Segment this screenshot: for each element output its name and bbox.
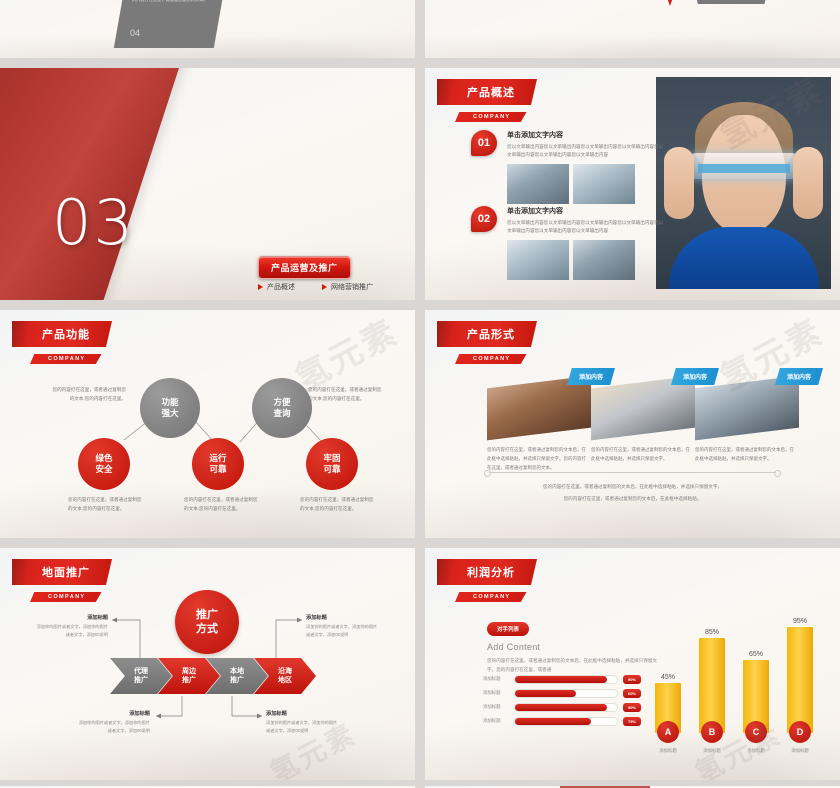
- chart-category-badge: C: [745, 721, 767, 743]
- overview-item-title: 单击添加文字内容: [507, 206, 665, 216]
- function-note-4: 您的内容打在这里，或者通过复制您的文本,您的内容打在这里。: [300, 496, 374, 513]
- chart-category-badge: D: [789, 721, 811, 743]
- slide-product-functions[interactable]: 产品功能 COMPANY 氢元素 功能强大 方便查询 绿色安全 运行可靠 牢固可…: [0, 310, 415, 538]
- chart-category-label: 添加标题: [654, 748, 682, 754]
- node-fangbian-chaxun[interactable]: 方便查询: [252, 378, 312, 438]
- step-line-1: 周边: [182, 667, 196, 676]
- node-yunxing-kekao[interactable]: 运行可靠: [192, 438, 244, 490]
- slide-header-subtitle: COMPANY: [455, 112, 527, 122]
- progress-track[interactable]: [514, 675, 618, 684]
- step-line-2: 推广: [230, 676, 244, 685]
- cover-section-pill[interactable]: 产品运营及推广: [258, 256, 351, 279]
- progress-label: 添加标题: [483, 704, 509, 710]
- callout-desc: 添加你的图片或者文字，添加你的图片或者文字，添加00说明: [306, 623, 378, 639]
- node-line-2: 查询: [273, 408, 290, 419]
- slide-ground-promotion[interactable]: 地面推广 COMPANY 氢元素 推广 方式 代理 推广 周边 推广 本地: [0, 548, 415, 780]
- progress-fill: [515, 676, 607, 683]
- form-card-desc: 您的内容打在这里，或者通过复制您的文本后，在此框中选择粘贴，并选择只保留文字。: [591, 446, 691, 464]
- progress-track[interactable]: [514, 717, 618, 726]
- slide-header-subtitle: COMPANY: [455, 354, 527, 364]
- vr-visor-band: [698, 164, 790, 173]
- node-lvse-anquan[interactable]: 绿色安全: [78, 438, 130, 490]
- partial-top-left-text: 单击添加文字内容，代理的详细文字，您的内容打在这里，或者通过复制的文本。: [132, 0, 210, 5]
- slide-header: 产品形式 COMPANY: [437, 321, 537, 365]
- form-card-desc: 您的内容打在这里，或者通过复制您的文本后，在此框中选择粘贴，并选择只保留文字。您…: [487, 446, 587, 472]
- chart-category-label: 添加标题: [786, 748, 814, 754]
- slide-header-subtitle: COMPANY: [30, 354, 102, 364]
- chart-value-label: 95%: [786, 618, 814, 625]
- callout-2: 添加标题 添加你的图片或者文字，添加你的图片或者文字，添加00说明: [266, 710, 338, 735]
- function-note-1: 您的内容打在这里，或者通过复制您的文本,您的内容打在这里。: [308, 386, 382, 403]
- form-card-image[interactable]: [695, 376, 799, 441]
- form-card-tag[interactable]: 添加内容: [775, 368, 823, 385]
- callout-title: 添加标题: [78, 710, 150, 717]
- profit-bar-chart: 45%A添加标题85%B添加标题65%C添加标题95%D添加标题: [646, 614, 826, 754]
- slide-header-title: 产品概述: [437, 79, 537, 105]
- slide-header-title: 产品形式: [437, 321, 537, 347]
- chart-column-a[interactable]: 45%A添加标题: [654, 674, 682, 754]
- callout-desc: 添加你的图片或者文字，添加你的图片或者文字，添加00说明: [78, 719, 150, 735]
- thumbnail-image[interactable]: [507, 164, 569, 204]
- slide-header-title: 产品功能: [12, 321, 112, 347]
- slide-partial-top-left[interactable]: 单击添加文字内容，代理的详细文字，您的内容打在这里，或者通过复制的文本。 04: [0, 0, 415, 58]
- progress-value: 60%: [623, 689, 641, 698]
- callout-0: 添加标题 添加你的图片或者文字，添加你的图片或者文字，添加00说明: [36, 614, 108, 639]
- overview-number-badge: 01: [471, 130, 497, 156]
- slide-header-subtitle: COMPANY: [30, 592, 102, 602]
- forms-footer-line-2: 您的内容打在这里，或者通过复制您的文本后，在此框中选择粘贴。: [425, 494, 840, 504]
- node-line-1: 功能: [161, 397, 178, 408]
- thumbnail-image[interactable]: [573, 164, 635, 204]
- node-line-1: 绿色: [95, 453, 112, 464]
- gray-trapezoid-shape: [687, 0, 777, 4]
- slide-header: 利润分析 COMPANY: [437, 559, 537, 603]
- overview-number: 02: [478, 213, 490, 225]
- function-note-3: 您的内容打在这里，或者通过复制您的文本,您的内容打在这里。: [184, 496, 258, 513]
- toc-item-0[interactable]: 产品概述: [258, 282, 322, 292]
- slide-header-subtitle: COMPANY: [455, 592, 527, 602]
- step-line-2: 推广: [134, 676, 148, 685]
- node-line-1: 运行: [209, 453, 226, 464]
- step-line-2: 地区: [278, 676, 292, 685]
- slide-profit-analysis[interactable]: 利润分析 COMPANY 氢元素 对手列表 Add Content 您的内容打在…: [425, 548, 840, 780]
- callout-title: 添加标题: [306, 614, 378, 621]
- slide-header-title: 地面推广: [12, 559, 112, 585]
- diagonal-red-band: [0, 68, 189, 300]
- function-note-2: 您的内容打在这里，或者通过复制您的文本,您的内容打在这里。: [68, 496, 142, 513]
- callout-3: 添加标题 添加你的图片或者文字，添加你的图片或者文字，添加00说明: [306, 614, 378, 639]
- step-line-1: 沿海: [278, 667, 292, 676]
- toc-item-1[interactable]: 网络营销推广: [322, 282, 398, 292]
- form-card-image[interactable]: [487, 376, 591, 441]
- chart-bar: [699, 638, 725, 733]
- form-card-1[interactable]: 添加内容 您的内容打在这里，或者通过复制您的文本后，在此框中选择粘贴，并选择只保…: [591, 382, 695, 464]
- overview-number: 01: [478, 137, 490, 149]
- progress-fill: [515, 718, 591, 725]
- progress-value: 90%: [623, 703, 641, 712]
- node-line-1: 牢固: [323, 453, 340, 464]
- progress-row-2[interactable]: 添加标题 90%: [483, 700, 641, 714]
- chart-value-label: 65%: [742, 651, 770, 658]
- chart-value-label: 45%: [654, 674, 682, 681]
- slide-product-forms[interactable]: 产品形式 COMPANY 氢元素 添加内容 您的内容打在这里，或者通过复制您的文…: [425, 310, 840, 538]
- photo-hand-left: [664, 147, 694, 219]
- red-triangle-shape: [653, 0, 687, 6]
- progress-fill: [515, 704, 607, 711]
- toc-item-label: 网络营销推广: [331, 282, 373, 292]
- cover-section-number: 03: [52, 186, 135, 259]
- triangle-bullet-icon: [322, 284, 327, 290]
- partial-top-left-number: 04: [130, 28, 140, 38]
- slide-header: 产品功能 COMPANY: [12, 321, 112, 365]
- overview-item-0[interactable]: 01 单击添加文字内容 您以文单输出内容您以文单输出内容您以文单输出内容您以文单…: [471, 130, 665, 204]
- cover-toc-list: 产品概述 网络营销推广 产品形式 产品功能 地面推广 产品利润分析: [258, 282, 398, 300]
- photo-hand-right: [793, 147, 823, 219]
- progress-label: 添加标题: [483, 690, 509, 696]
- callout-title: 添加标题: [266, 710, 338, 717]
- chart-bar: [787, 627, 813, 733]
- gray-quad-shape: [114, 0, 226, 48]
- function-note-0: 您的内容打在这里，或者通过复制您的文本,您的内容打在这里。: [52, 386, 126, 403]
- chart-category-badge: A: [657, 721, 679, 743]
- callout-1: 添加标题 添加你的图片或者文字，添加你的图片或者文字，添加00说明: [78, 710, 150, 735]
- thumbnail-image[interactable]: [507, 240, 569, 280]
- step-line-1: 代理: [134, 667, 148, 676]
- progress-bar-list: 添加标题 90% 添加标题 60% 添加标题 90%: [483, 672, 641, 728]
- callout-desc: 添加你的图片或者文字，添加你的图片或者文字，添加00说明: [36, 623, 108, 639]
- progress-row-0[interactable]: 添加标题 90%: [483, 672, 641, 686]
- center-line-1: 推广: [196, 608, 218, 622]
- slide-header: 产品概述 COMPANY: [437, 79, 537, 123]
- progress-row-1[interactable]: 添加标题 60%: [483, 686, 641, 700]
- center-line-2: 方式: [196, 622, 218, 636]
- profit-pill-badge[interactable]: 对手列表: [487, 622, 529, 636]
- chart-column-d[interactable]: 95%D添加标题: [786, 618, 814, 754]
- progress-track[interactable]: [514, 703, 618, 712]
- progress-label: 添加标题: [483, 676, 509, 682]
- slide-deck-page: 单击添加文字内容，代理的详细文字，您的内容打在这里，或者通过复制的文本。 04 …: [0, 0, 840, 788]
- slide-header-title: 利润分析: [437, 559, 537, 585]
- chart-category-label: 添加标题: [742, 748, 770, 754]
- forms-footer-line-1: 您的内容打在这里，或者通过复制您的文本后，在此框中选择粘贴，并选择只保留文字。: [425, 482, 840, 492]
- progress-value: 90%: [623, 675, 641, 684]
- progress-fill: [515, 690, 576, 697]
- overview-number-badge: 02: [471, 206, 497, 232]
- callout-title: 添加标题: [36, 614, 108, 621]
- overview-thumbnails: [507, 164, 665, 204]
- node-line-2: 安全: [95, 464, 112, 475]
- node-line-2: 可靠: [209, 464, 226, 475]
- toc-item-label: 产品概述: [267, 282, 295, 292]
- overview-item-desc: 您以文单输出内容您以文单输出内容您以文单输出内容您以文单输出内容您以文单输出内容…: [507, 219, 665, 236]
- node-gongneng-qiangda[interactable]: 功能强大: [140, 378, 200, 438]
- chart-column-b[interactable]: 85%B添加标题: [698, 629, 726, 754]
- center-circle-promotion-method[interactable]: 推广 方式: [175, 590, 239, 654]
- divider-rule: [489, 472, 776, 473]
- triangle-bullet-icon: [258, 284, 263, 290]
- vr-photo: [656, 77, 831, 289]
- progress-track[interactable]: [514, 689, 618, 698]
- progress-row-3[interactable]: 添加标题 75%: [483, 714, 641, 728]
- step-line-2: 推广: [182, 676, 196, 685]
- chart-value-label: 85%: [698, 629, 726, 636]
- overview-item-desc: 您以文单输出内容您以文单输出内容您以文单输出内容您以文单输出内容您以文单输出内容…: [507, 143, 665, 160]
- node-line-1: 方便: [273, 397, 290, 408]
- slide-header: 地面推广 COMPANY: [12, 559, 112, 603]
- slide-cover-03[interactable]: 03 产品运营及推广 产品概述 网络营销推广 产品形式 产品功能 地面推广: [0, 68, 415, 300]
- progress-label: 添加标题: [483, 718, 509, 724]
- node-line-2: 可靠: [323, 464, 340, 475]
- callout-desc: 添加你的图片或者文字，添加你的图片或者文字，添加00说明: [266, 719, 338, 735]
- step-line-1: 本地: [230, 667, 244, 676]
- form-card-image[interactable]: [591, 376, 695, 441]
- chart-category-label: 添加标题: [698, 748, 726, 754]
- slide-product-overview[interactable]: 产品概述 COMPANY 氢元素 01 单击添加文字内容 您以文单输出内容您以文…: [425, 68, 840, 300]
- progress-value: 75%: [623, 717, 641, 726]
- node-line-2: 强大: [161, 408, 178, 419]
- photo-body-shape: [669, 227, 819, 289]
- form-card-0[interactable]: 添加内容 您的内容打在这里，或者通过复制您的文本后，在此框中选择粘贴，并选择只保…: [487, 382, 591, 472]
- chart-category-badge: B: [701, 721, 723, 743]
- chart-column-c[interactable]: 65%C添加标题: [742, 651, 770, 754]
- node-laogu-kekao[interactable]: 牢固可靠: [306, 438, 358, 490]
- overview-item-title: 单击添加文字内容: [507, 130, 665, 140]
- thumbnail-image[interactable]: [573, 240, 635, 280]
- form-card-2[interactable]: 添加内容 您的内容打在这里，或者通过复制您的文本后，在此框中选择粘贴，并选择只保…: [695, 382, 799, 464]
- overview-thumbnails: [507, 240, 665, 280]
- form-card-desc: 您的内容打在这里，或者通过复制您的文本后，在此框中选择粘贴，并选择只保留文字。: [695, 446, 795, 464]
- slide-partial-top-right[interactable]: 单击添加文字内容单击添加文字内容: [425, 0, 840, 58]
- overview-item-1[interactable]: 02 单击添加文字内容 您以文单输出内容您以文单输出内容您以文单输出内容您以文单…: [471, 206, 665, 280]
